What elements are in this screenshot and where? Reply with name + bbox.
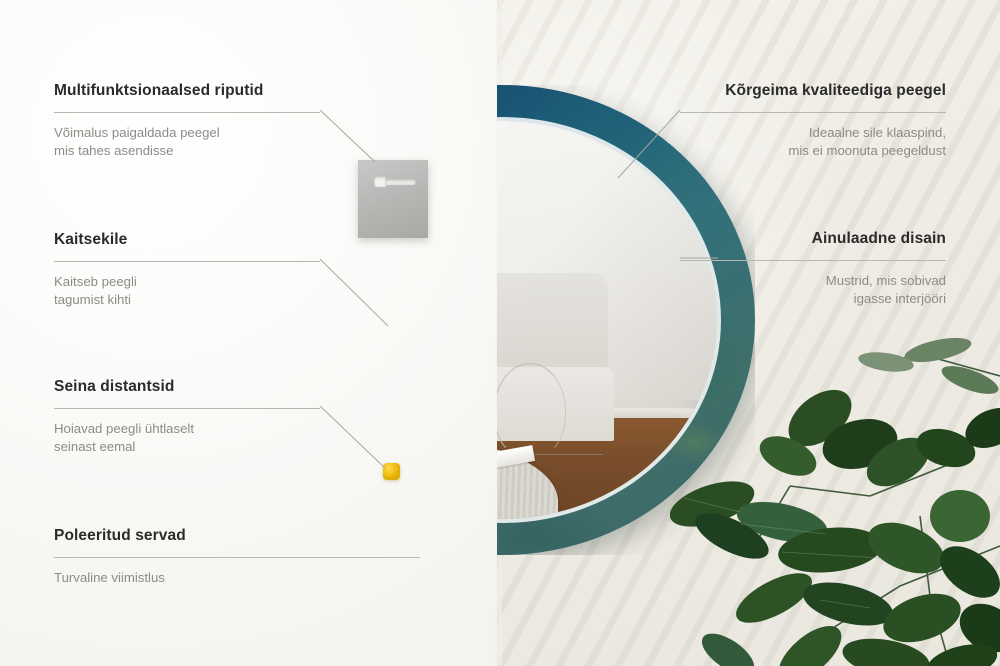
callout-title: Seina distantsid [54, 378, 320, 397]
callout-rule [54, 557, 420, 558]
callout-description: Turvaline viimistlus [54, 569, 420, 587]
callout-multifunctional-hangers: Multifunktsionaalsed riputid Võimalus pa… [54, 82, 320, 160]
callout-description: Hoiavad peegli ühtlaselt seinast eemal [54, 420, 320, 456]
callout-unique-design: Ainulaadne disain Mustrid, mis sobivad i… [680, 230, 946, 308]
callout-title: Poleeritud servad [54, 527, 420, 546]
spacer-dot-icon [383, 463, 400, 480]
hanger-plate [358, 160, 428, 238]
keyhole-slot-icon [374, 176, 416, 187]
plant-foliage [670, 336, 1000, 666]
callout-title: Ainulaadne disain [680, 230, 946, 249]
callout-highest-quality-mirror: Kõrgeima kvaliteediga peegel Ideaalne si… [680, 82, 946, 160]
callout-description: Ideaalne sile klaaspind, mis ei moonuta … [680, 124, 946, 160]
callout-description: Mustrid, mis sobivad igasse interjööri [680, 272, 946, 308]
callout-wall-spacers: Seina distantsid Hoiavad peegli ühtlasel… [54, 378, 320, 456]
callout-title: Kaitsekile [54, 231, 320, 250]
callout-rule [680, 112, 946, 113]
callout-protective-film: Kaitsekile Kaitseb peegli tagumist kihti [54, 231, 320, 309]
callout-rule [680, 260, 946, 261]
callout-description: Kaitseb peegli tagumist kihti [54, 273, 320, 309]
infographic-canvas: Multifunktsionaalsed riputid Võimalus pa… [0, 0, 1000, 666]
callout-polished-edges: Poleeritud servad Turvaline viimistlus [54, 527, 420, 587]
callout-description: Võimalus paigaldada peegel mis tahes ase… [54, 124, 320, 160]
callout-rule [54, 261, 320, 262]
callout-title: Multifunktsionaalsed riputid [54, 82, 320, 101]
callout-rule [54, 112, 320, 113]
callout-title: Kõrgeima kvaliteediga peegel [680, 82, 946, 101]
callout-rule [54, 408, 320, 409]
